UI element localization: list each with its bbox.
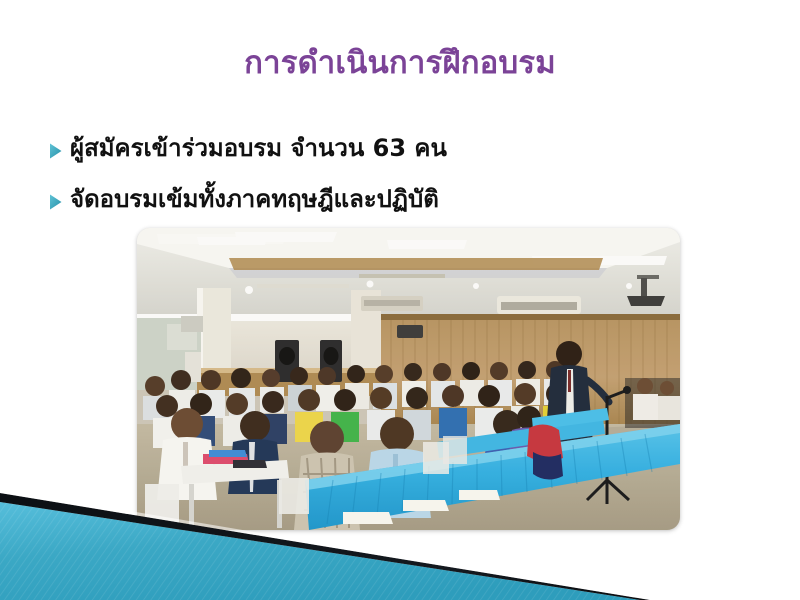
training-seminar-photo [137, 228, 680, 530]
page-title: การดำเนินการฝึกอบรม [0, 44, 800, 83]
list-item-label: ผู้สมัครเข้าร่วมอบรม จำนวน 63 คน [70, 132, 447, 164]
triangle-right-bullet-icon [48, 134, 70, 168]
list-item: จัดอบรมเข้มทั้งภาคทฤษฎีและปฏิบัติ [48, 183, 668, 225]
photo-reflection [137, 531, 680, 593]
slide-canvas: การดำเนินการฝึกอบรม ผู้สมัครเข้าร่วมอบรม… [0, 0, 800, 600]
photo-frame [137, 228, 680, 530]
list-item: ผู้สมัครเข้าร่วมอบรม จำนวน 63 คน [48, 132, 668, 174]
list-item-label: จัดอบรมเข้มทั้งภาคทฤษฎีและปฏิบัติ [70, 183, 439, 215]
triangle-right-bullet-icon [48, 185, 70, 219]
bullet-list: ผู้สมัครเข้าร่วมอบรม จำนวน 63 คน จัดอบรม… [48, 132, 668, 234]
